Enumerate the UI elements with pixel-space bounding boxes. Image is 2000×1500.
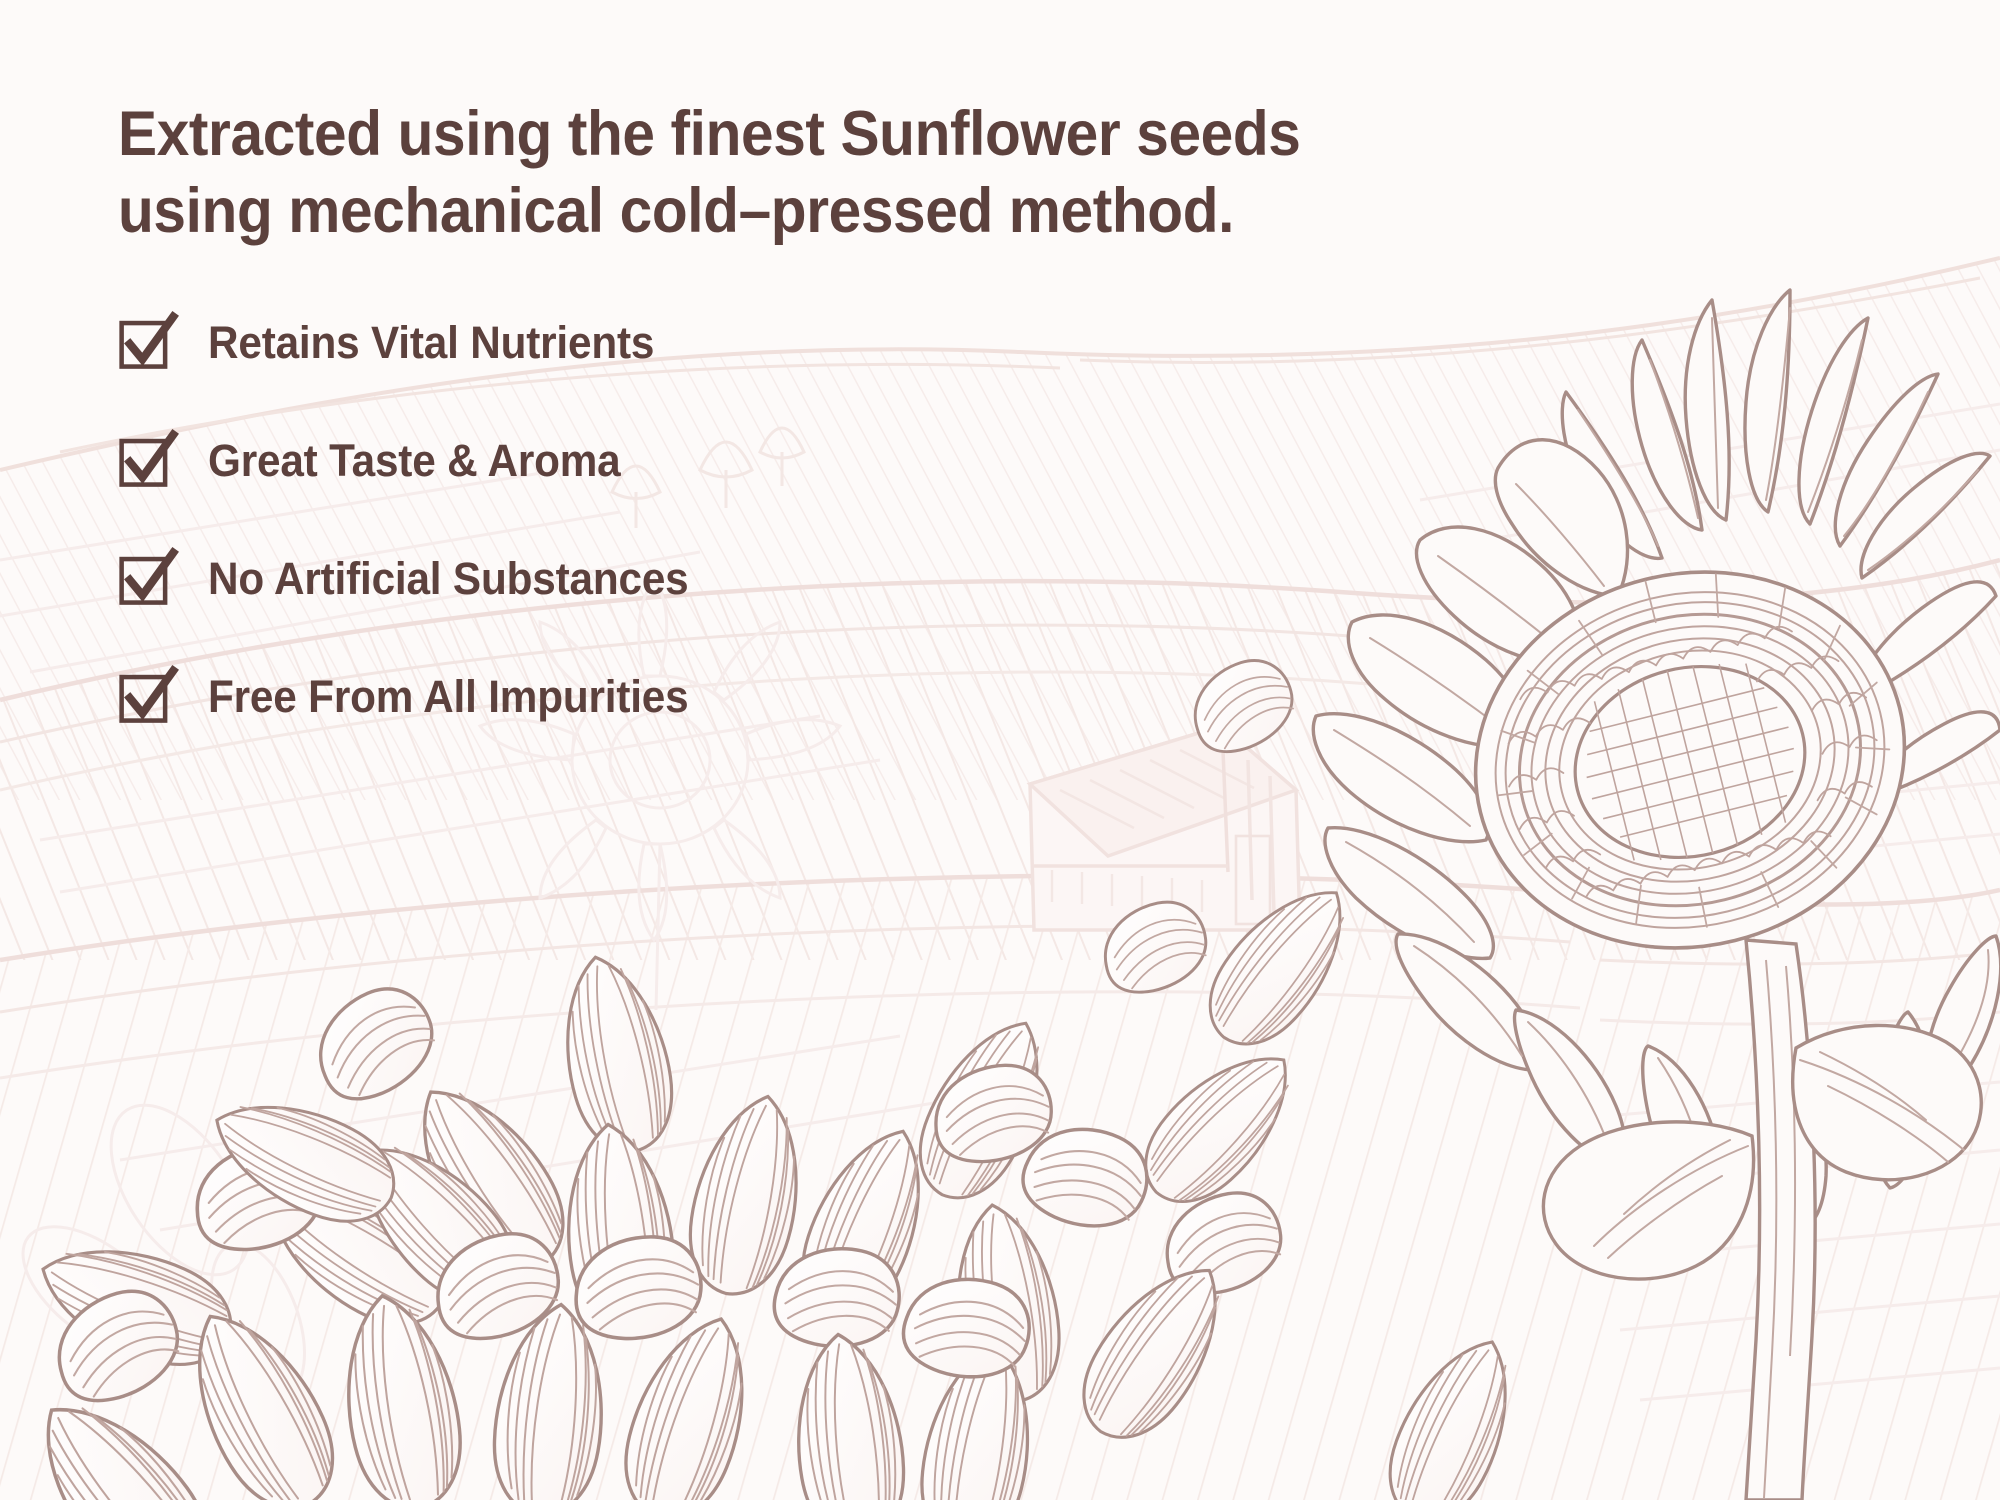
benefits-checklist: Retains Vital Nutrients Great Taste & Ar… <box>118 312 1378 728</box>
checkbox-checked-icon <box>118 668 176 726</box>
sunflower-line-art <box>1313 290 2000 1500</box>
list-item: Retains Vital Nutrients <box>118 312 1378 374</box>
sunflower-seeds-line-art <box>10 947 1317 1500</box>
headline-line-1: Extracted using the finest Sunflower see… <box>118 96 1290 173</box>
page-title: Extracted using the finest Sunflower see… <box>118 96 1290 250</box>
floating-seed-2 <box>1092 892 1217 1003</box>
floating-seed-4 <box>1370 1323 1536 1500</box>
list-item: Free From All Impurities <box>118 666 1378 728</box>
poster-canvas: Extracted using the finest Sunflower see… <box>0 0 2000 1500</box>
list-item-label: No Artificial Substances <box>208 556 689 601</box>
sunflower-stem-leaves <box>1543 940 1981 1500</box>
barn-house-background <box>1030 726 1300 930</box>
checkbox-checked-icon <box>118 550 176 608</box>
checkbox-checked-icon <box>118 432 176 490</box>
list-item-label: Retains Vital Nutrients <box>208 320 654 365</box>
list-item-label: Great Taste & Aroma <box>208 438 621 483</box>
floating-seed-3 <box>1188 865 1372 1065</box>
headline-line-2: using mechanical cold–pressed method. <box>118 173 1290 250</box>
checkbox-checked-icon <box>118 314 176 372</box>
list-item: No Artificial Substances <box>118 548 1378 610</box>
content-block: Extracted using the finest Sunflower see… <box>118 96 1378 728</box>
list-item-label: Free From All Impurities <box>208 674 688 719</box>
list-item: Great Taste & Aroma <box>118 430 1378 492</box>
